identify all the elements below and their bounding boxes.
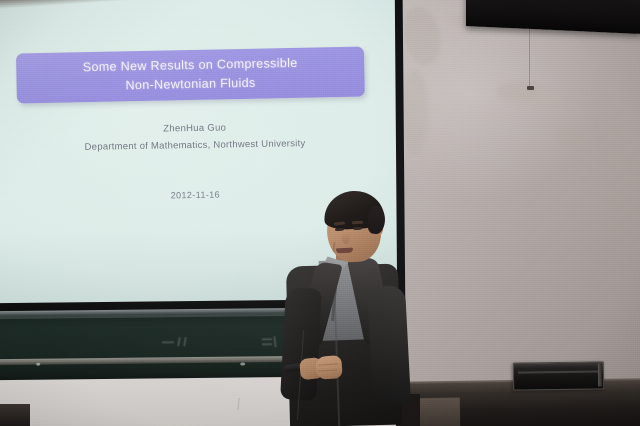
speaker-arm-left [280, 287, 322, 401]
speaker-eyebrow-right [352, 221, 363, 225]
speaker-hand-right [315, 355, 343, 380]
speaker-arm-right [367, 285, 411, 405]
lecture-photo: Some New Results on Compressible Non-New… [0, 0, 640, 426]
speaker-figure [0, 0, 640, 426]
speaker-hair-side [367, 205, 387, 235]
speaker-nose [342, 232, 350, 244]
